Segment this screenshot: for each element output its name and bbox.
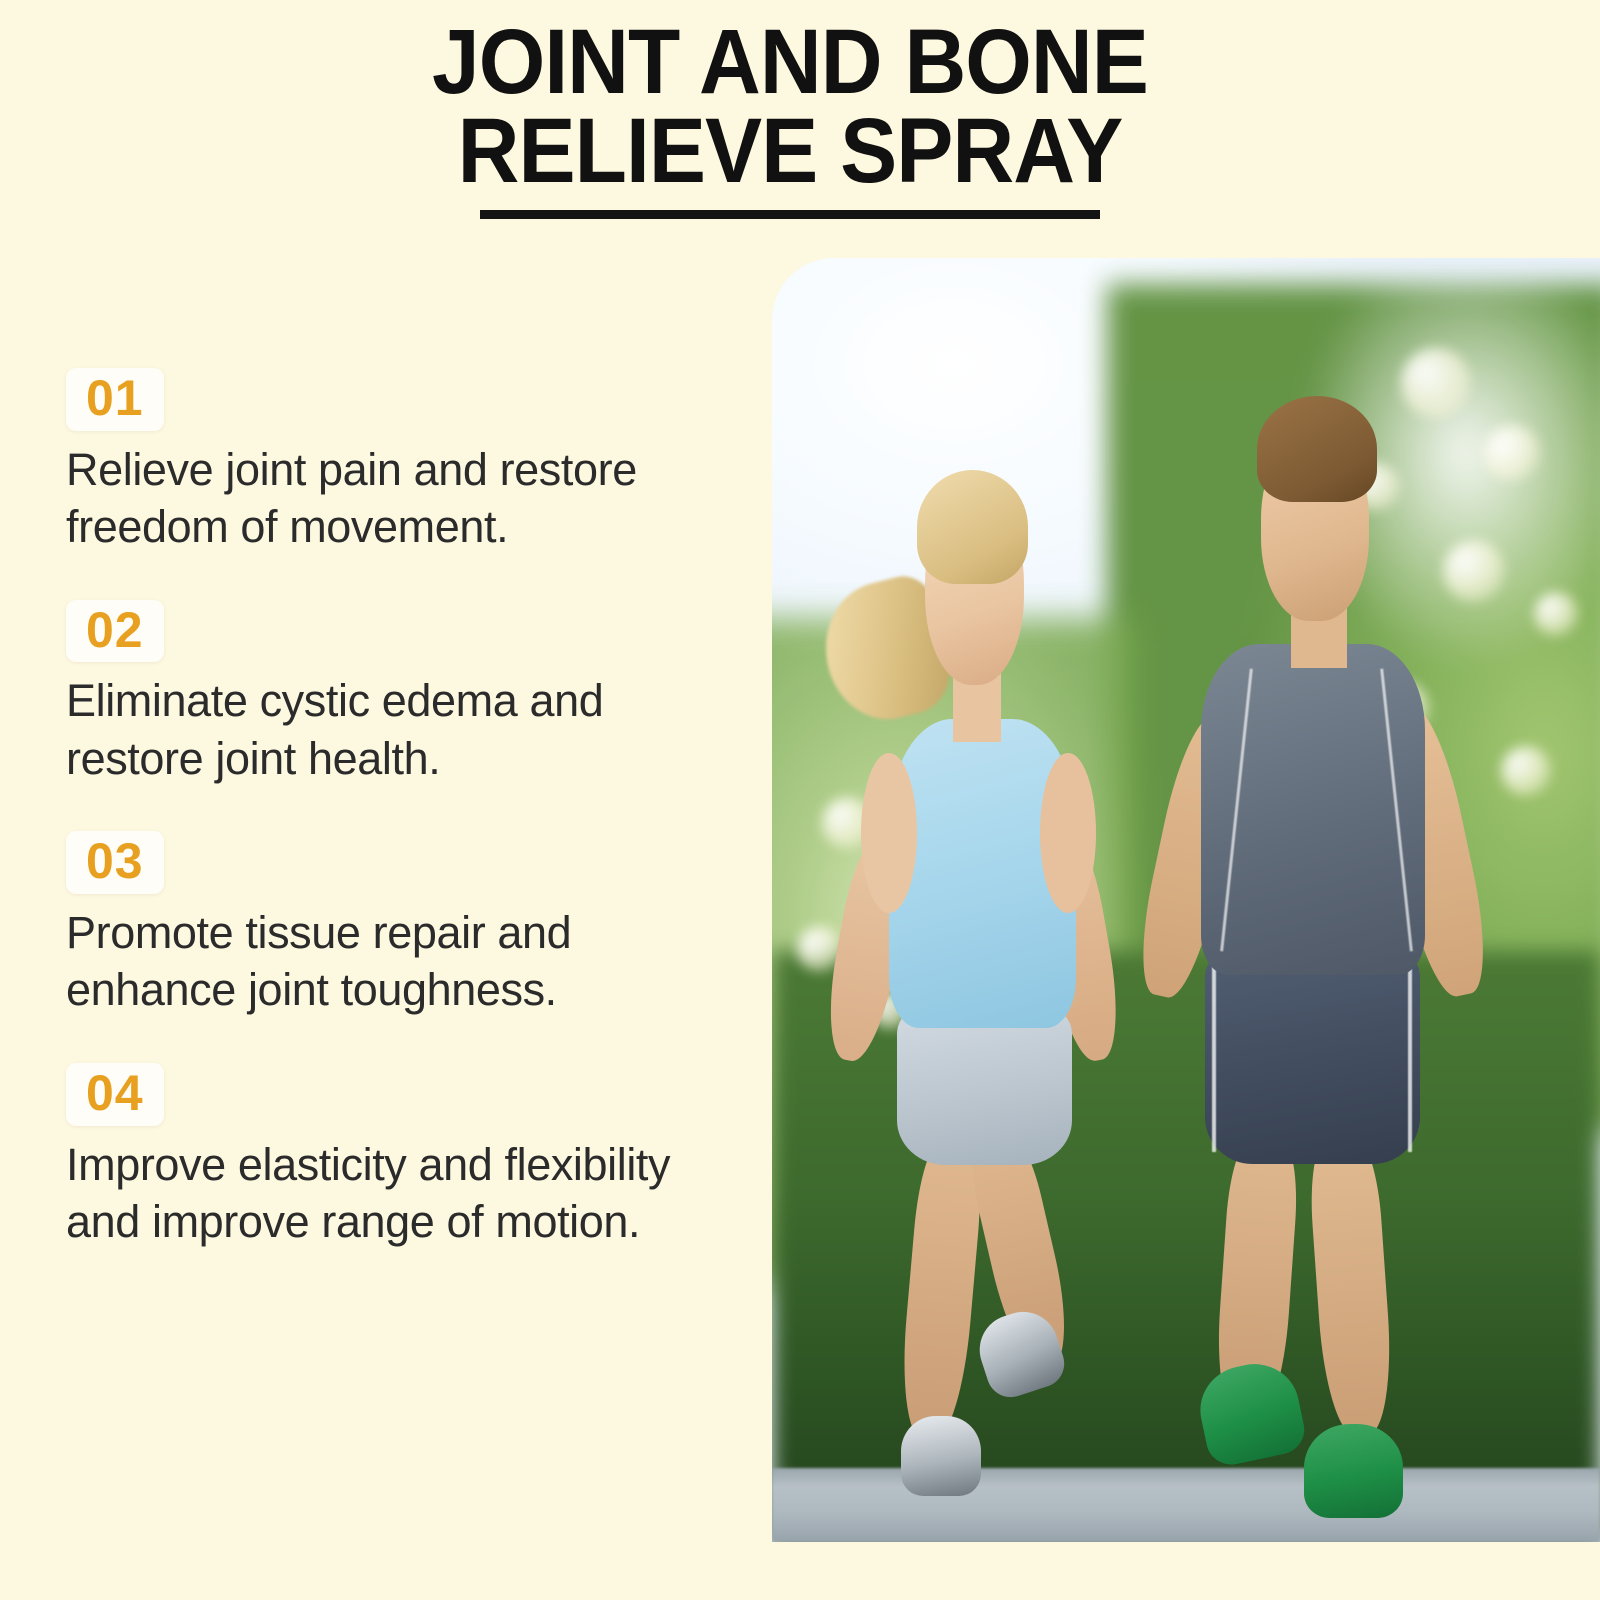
title-line-2: RELIEVE SPRAY (55, 107, 1524, 196)
runner-man (1136, 361, 1567, 1542)
title-line-1: JOINT AND BONE (55, 18, 1524, 107)
title-underline (480, 210, 1100, 219)
man-left-shoe (1192, 1356, 1308, 1469)
feature-text-01: Relieve joint pain and restore freedom o… (66, 441, 706, 556)
infographic-page: JOINT AND BONE RELIEVE SPRAY 01 Relieve … (0, 0, 1600, 1600)
feature-item-01: 01 Relieve joint pain and restore freedo… (66, 368, 746, 556)
feature-badge-03: 03 (66, 831, 164, 894)
man-shorts (1205, 951, 1420, 1164)
feature-number-02: 02 (86, 602, 144, 658)
feature-number-03: 03 (86, 833, 144, 889)
woman-shorts (897, 1005, 1072, 1165)
man-hair (1257, 396, 1378, 502)
feature-text-04: Improve elasticity and flexibility and i… (66, 1136, 706, 1251)
page-title: JOINT AND BONE RELIEVE SPRAY (0, 18, 1580, 219)
feature-number-01: 01 (86, 370, 144, 426)
woman-right-shoulder (1040, 753, 1096, 913)
feature-badge-04: 04 (66, 1063, 164, 1126)
runners-photo (772, 258, 1600, 1542)
feature-text-03: Promote tissue repair and enhance joint … (66, 904, 706, 1019)
feature-item-04: 04 Improve elasticity and flexibility an… (66, 1063, 746, 1251)
woman-hair (917, 470, 1028, 584)
feature-item-02: 02 Eliminate cystic edema and restore jo… (66, 600, 746, 788)
woman-left-leg (896, 1140, 985, 1442)
feature-item-03: 03 Promote tissue repair and enhance joi… (66, 831, 746, 1019)
woman-left-shoulder (861, 753, 917, 913)
man-shorts-stripe-left (1212, 963, 1216, 1152)
man-right-shoe (1304, 1424, 1403, 1519)
feature-number-04: 04 (86, 1065, 144, 1121)
man-right-leg (1307, 1138, 1396, 1437)
feature-badge-02: 02 (66, 600, 164, 663)
feature-text-02: Eliminate cystic edema and restore joint… (66, 672, 706, 787)
woman-left-shoe (901, 1416, 980, 1496)
feature-badge-01: 01 (66, 368, 164, 431)
man-shorts-stripe-right (1408, 963, 1412, 1152)
feature-list: 01 Relieve joint pain and restore freedo… (66, 368, 746, 1251)
